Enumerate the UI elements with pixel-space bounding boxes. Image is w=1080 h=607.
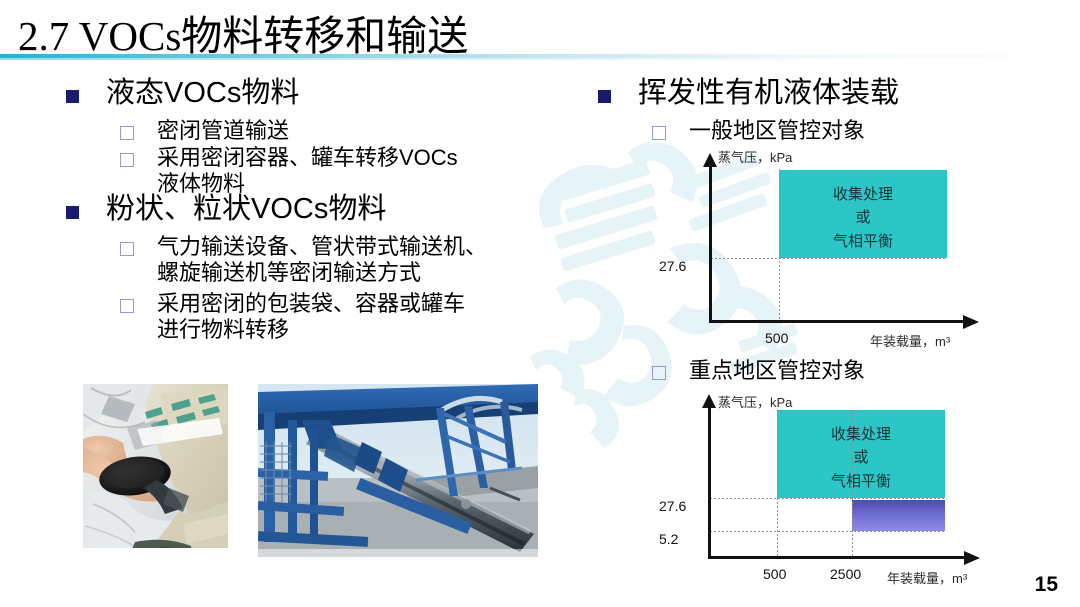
sub-bullet-label-line1: 采用密闭容器、罐车转移VOCs <box>157 145 458 171</box>
chart2-gridline-y-5-2 <box>710 531 945 532</box>
sub-bullet-key-area-control: 重点地区管控对象 <box>652 358 865 384</box>
bullet-liquid-vocs-material: 液态VOCs物料 <box>66 77 299 110</box>
sub-bullet-label-line2: 螺旋输送机等密闭输送方式 <box>157 260 487 286</box>
chart1-y-axis-arrow-icon <box>702 153 718 167</box>
chart2-zone-label-line3: 气相平衡 <box>777 470 945 493</box>
bullet-volatile-organic-liquid-loading: 挥发性有机液体装载 <box>598 77 899 110</box>
sub-bullet-label-wrap: 气力输送设备、管状带式输送机、 螺旋输送机等密闭输送方式 <box>157 234 487 286</box>
bullet-heading-label: 粉状、粒状VOCs物料 <box>106 193 386 226</box>
chart2-x-tick-2500: 2500 <box>830 566 861 582</box>
chart2-y-tick-27-6: 27.6 <box>659 498 686 514</box>
chart2-zone-label: 收集处理 或 气相平衡 <box>777 423 945 493</box>
bullet-heading-label: 挥发性有机液体装载 <box>638 77 899 110</box>
chart1-zone-label: 收集处理 或 气相平衡 <box>779 183 947 253</box>
sub-bullet-label-wrap: 采用密闭的包装袋、容器或罐车 进行物料转移 <box>157 291 465 343</box>
chart2-x-axis-arrow-icon <box>964 550 980 566</box>
chart1-y-axis-label: 蒸气压，kPa <box>718 147 792 166</box>
chart1-y-axis <box>709 163 712 323</box>
sub-bullet-label: 一般地区管控对象 <box>689 118 865 144</box>
chart2-y-axis-arrow-icon <box>701 394 717 408</box>
bullet-square-outline-icon <box>120 299 134 313</box>
photo-black-granular-material-in-bag <box>83 384 228 557</box>
chart2-zone-secondary <box>852 500 945 531</box>
sub-bullet-general-area-control: 一般地区管控对象 <box>652 118 865 144</box>
chart2-y-axis <box>708 404 711 558</box>
bullet-powder-granular-vocs-material: 粉状、粒状VOCs物料 <box>66 193 386 226</box>
sub-bullet-pneumatic-conveying: 气力输送设备、管状带式输送机、 螺旋输送机等密闭输送方式 <box>120 234 487 286</box>
bullet-square-filled-icon <box>66 206 79 219</box>
chart1-x-tick-500: 500 <box>765 330 788 346</box>
sub-bullet-closed-container-tanker: 采用密闭容器、罐车转移VOCs 液体物料 <box>120 145 458 197</box>
bullet-square-outline-icon <box>120 242 134 256</box>
chart1-zone-label-line2: 或 <box>779 206 947 229</box>
sub-bullet-label: 密闭管道输送 <box>157 118 289 144</box>
page-number: 15 <box>1035 573 1058 597</box>
chart1-zone-label-line3: 气相平衡 <box>779 230 947 253</box>
chart2-gridline-x-2500 <box>852 410 853 558</box>
slide-title: 2.7 VOCs物料转移和输送 <box>18 2 468 62</box>
general-area-control-chart: 蒸气压，kPa 收集处理 或 气相平衡 27.6 500 年装载量，m³ <box>655 145 985 345</box>
chart1-x-axis-label: 年装载量，m³ <box>870 331 950 350</box>
sub-bullet-label-line2: 进行物料转移 <box>157 317 465 343</box>
sub-bullet-sealed-bags-containers: 采用密闭的包装袋、容器或罐车 进行物料转移 <box>120 291 465 343</box>
key-area-control-chart: 蒸气压，kPa 收集处理 或 气相平衡 27.6 5.2 500 2500 年装… <box>655 392 985 597</box>
bullet-square-filled-icon <box>66 90 79 103</box>
chart2-y-axis-label: 蒸气压，kPa <box>718 392 792 411</box>
photo-tubular-belt-conveyor <box>258 384 538 557</box>
chart2-gridline-x-500 <box>777 410 778 558</box>
chart2-zone-label-line1: 收集处理 <box>777 423 945 446</box>
chart2-x-axis <box>708 556 970 559</box>
chart1-zone-label-line1: 收集处理 <box>779 183 947 206</box>
chart2-y-tick-5-2: 5.2 <box>659 531 678 547</box>
bullet-square-outline-icon <box>652 126 666 140</box>
sub-bullet-closed-pipeline: 密闭管道输送 <box>120 118 289 144</box>
slide-canvas: 2.7 VOCs物料转移和输送 液态VOCs物料 密闭管道输送 采用密闭容器、罐… <box>0 0 1080 607</box>
bullet-square-filled-icon <box>598 90 611 103</box>
bullet-square-outline-icon <box>120 153 134 167</box>
title-underline-accent-secondary <box>0 58 1080 60</box>
chart2-x-axis-label: 年装载量，m³ <box>887 568 967 587</box>
chart2-gridline-y-27-6 <box>710 498 945 499</box>
chart1-gridline-y-27-6 <box>711 258 947 259</box>
sub-bullet-label-line1: 采用密闭的包装袋、容器或罐车 <box>157 291 465 317</box>
chart1-gridline-x-500 <box>779 169 780 321</box>
chart1-x-axis-arrow-icon <box>963 314 979 330</box>
bullet-square-outline-icon <box>652 366 666 380</box>
bullet-square-outline-icon <box>120 126 134 140</box>
chart1-y-tick-27-6: 27.6 <box>659 258 686 274</box>
sub-bullet-label: 重点地区管控对象 <box>689 358 865 384</box>
sub-bullet-label-wrap: 采用密闭容器、罐车转移VOCs 液体物料 <box>157 145 458 197</box>
sub-bullet-label-line1: 气力输送设备、管状带式输送机、 <box>157 234 487 260</box>
chart2-zone-label-line2: 或 <box>777 446 945 469</box>
chart1-x-axis <box>709 320 969 323</box>
chart2-x-tick-500: 500 <box>763 566 786 582</box>
bullet-heading-label: 液态VOCs物料 <box>106 77 299 110</box>
